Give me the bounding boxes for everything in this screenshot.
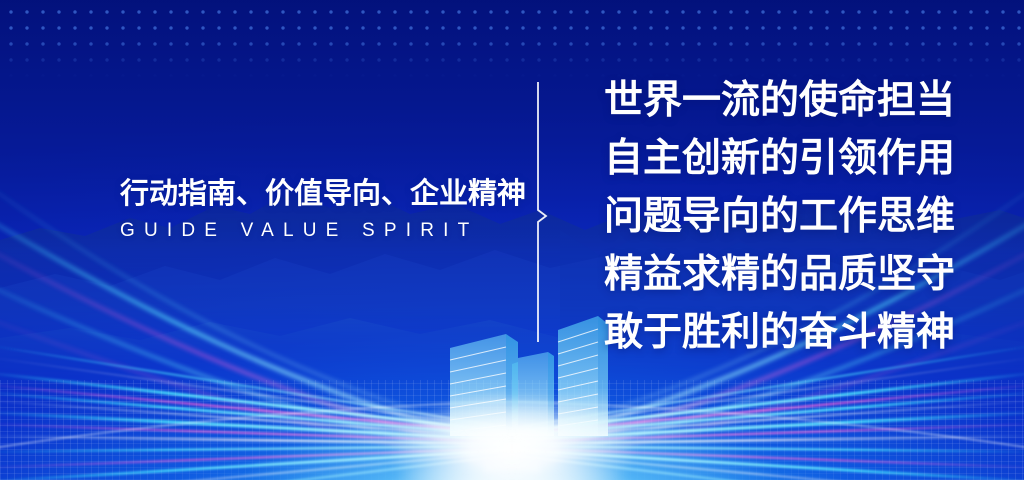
chevron-right-icon (530, 82, 556, 342)
slogan-line: 世界一流的使命担当 (604, 72, 984, 130)
corporate-culture-banner: 行动指南、价值导向、企业精神 GUIDE VALUE SPIRIT 世界一流的使… (0, 0, 1024, 480)
subheadline-english: GUIDE VALUE SPIRIT (120, 219, 500, 243)
slogan-line: 敢于胜利的奋斗精神 (604, 304, 984, 362)
divider (530, 82, 556, 342)
center-core-glow (387, 392, 637, 480)
slogan-line: 自主创新的引领作用 (604, 130, 984, 188)
headline-chinese: 行动指南、价值导向、企业精神 (120, 176, 500, 212)
slogan-line: 问题导向的工作思维 (604, 188, 984, 246)
slogan-line: 精益求精的品质坚守 (604, 246, 984, 304)
left-text-block: 行动指南、价值导向、企业精神 GUIDE VALUE SPIRIT (120, 176, 500, 243)
right-text-block: 世界一流的使命担当 自主创新的引领作用 问题导向的工作思维 精益求精的品质坚守 … (604, 72, 984, 362)
